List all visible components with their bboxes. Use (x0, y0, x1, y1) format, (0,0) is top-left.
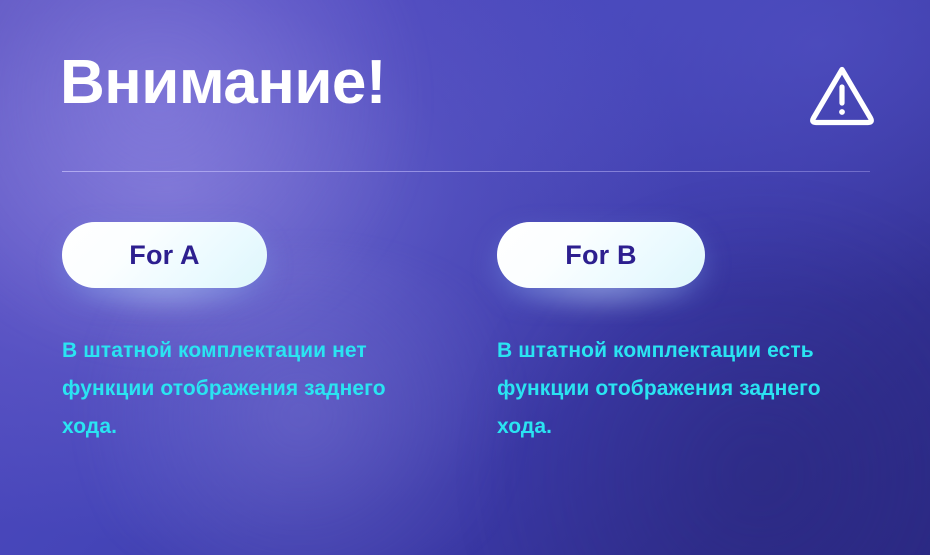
pill-wrapper-a: For A (62, 222, 267, 288)
option-columns: For A В штатной комплектации нет функции… (62, 222, 872, 447)
option-column-a: For A В штатной комплектации нет функции… (62, 222, 497, 447)
for-a-button[interactable]: For A (62, 222, 267, 288)
for-b-button[interactable]: For B (497, 222, 705, 288)
pill-wrapper-b: For B (497, 222, 705, 288)
warning-slide: Внимание! For A В штатной комплектации н… (0, 0, 930, 555)
option-a-description: В штатной комплектации нет функции отобр… (62, 288, 442, 447)
option-b-description: В штатной комплектации есть функции отоб… (497, 288, 877, 447)
option-column-b: For B В штатной комплектации есть функци… (497, 222, 872, 447)
page-title: Внимание! (60, 52, 386, 114)
header-divider (62, 171, 870, 172)
warning-triangle-icon (804, 60, 880, 132)
